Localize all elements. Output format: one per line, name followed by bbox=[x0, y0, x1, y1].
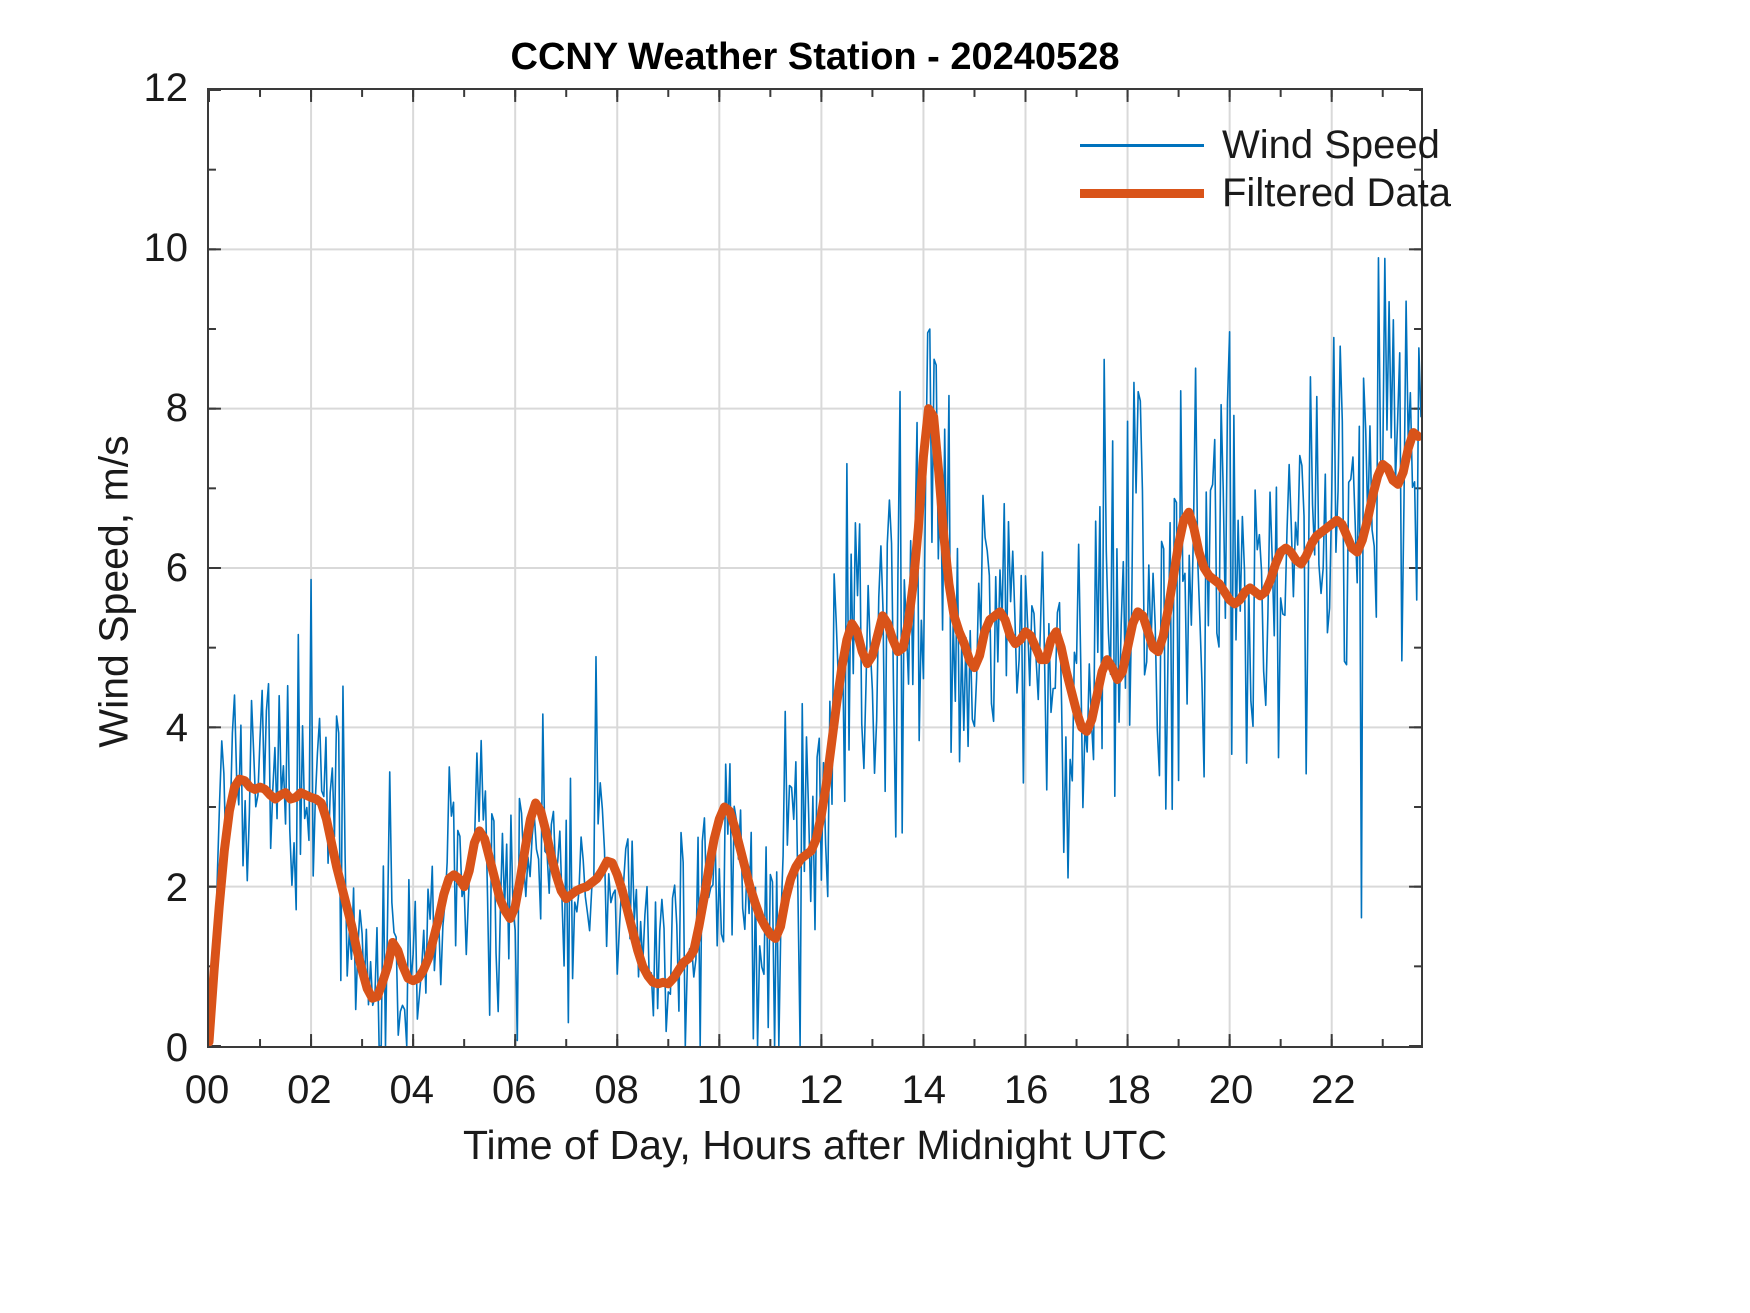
x-tick-label: 04 bbox=[390, 1068, 435, 1113]
legend-label-wind-speed: Wind Speed bbox=[1222, 122, 1440, 168]
x-tick-label: 00 bbox=[185, 1068, 230, 1113]
x-tick-label: 16 bbox=[1004, 1068, 1049, 1113]
y-tick-label: 8 bbox=[166, 388, 188, 428]
y-tick-label: 4 bbox=[166, 708, 188, 748]
x-tick-label: 14 bbox=[902, 1068, 947, 1113]
y-tick-label: 2 bbox=[166, 868, 188, 908]
figure-canvas: CCNY Weather Station - 20240528 02468101… bbox=[0, 0, 1750, 1313]
y-tick-label: 0 bbox=[166, 1028, 188, 1068]
x-tick-label: 02 bbox=[287, 1068, 332, 1113]
x-tick-label: 18 bbox=[1106, 1068, 1151, 1113]
chart-legend: Wind Speed Filtered Data bbox=[1058, 110, 1414, 214]
x-tick-label: 06 bbox=[492, 1068, 537, 1113]
legend-item-wind-speed[interactable]: Wind Speed bbox=[1058, 122, 1414, 170]
y-tick-label: 10 bbox=[144, 228, 189, 268]
x-tick-label: 08 bbox=[594, 1068, 639, 1113]
x-tick-label: 12 bbox=[799, 1068, 844, 1113]
legend-item-filtered-data[interactable]: Filtered Data bbox=[1058, 170, 1414, 218]
y-axis-label: Wind Speed, m/s bbox=[91, 232, 138, 952]
plot-area bbox=[207, 88, 1423, 1048]
legend-swatch-filtered-data bbox=[1080, 189, 1204, 198]
x-axis-label: Time of Day, Hours after Midnight UTC bbox=[207, 1122, 1423, 1169]
y-tick-label: 6 bbox=[166, 548, 188, 588]
legend-label-filtered-data: Filtered Data bbox=[1222, 170, 1451, 216]
x-tick-label: 22 bbox=[1311, 1068, 1356, 1113]
x-tick-label: 10 bbox=[697, 1068, 742, 1113]
x-tick-label: 20 bbox=[1209, 1068, 1254, 1113]
legend-swatch-wind-speed bbox=[1080, 144, 1204, 147]
y-tick-label: 12 bbox=[144, 68, 189, 108]
chart-svg bbox=[209, 90, 1421, 1046]
page-title: CCNY Weather Station - 20240528 bbox=[207, 36, 1423, 79]
